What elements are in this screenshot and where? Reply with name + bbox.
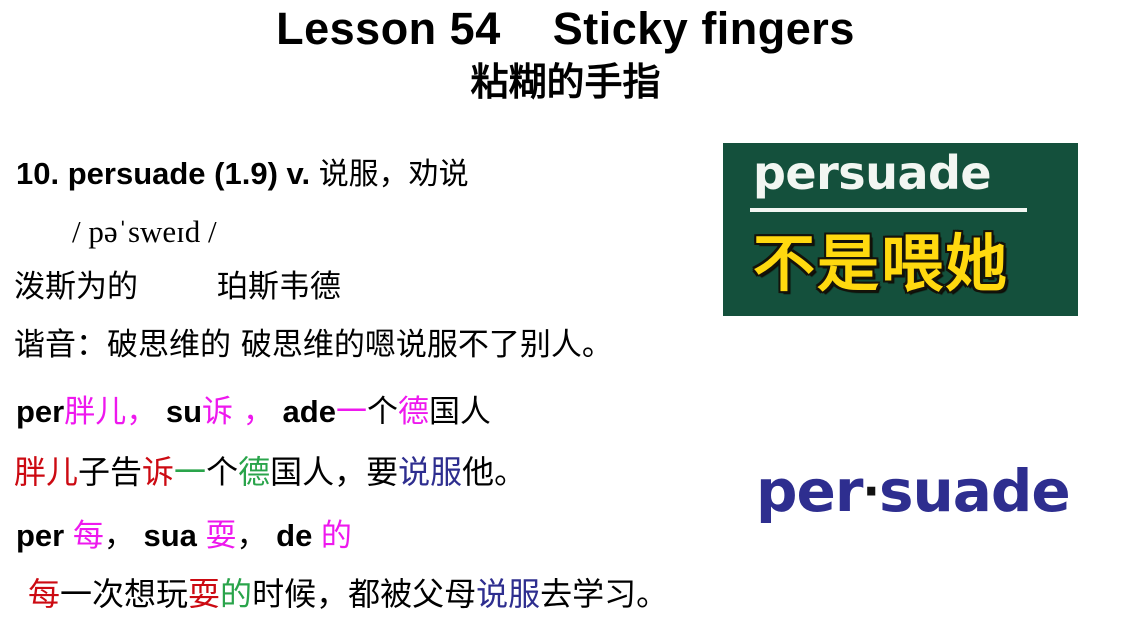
text-segment: su [157,394,202,429]
text-segment: 诉 [202,394,233,430]
wordmark-separator-dot: · [862,464,878,518]
wordmark-suffix: suade [879,457,1070,525]
text-segment: 的 [321,518,352,554]
green-mnemonic-card: persuade 不是喂她 [723,143,1078,316]
text-segment: 胖儿 [14,453,78,491]
text-segment: 国人，要 [270,453,398,491]
lesson-title-chinese: 粘糊的手指 [0,57,1131,107]
vocabulary-definition: 说服，劝说 [319,157,469,192]
text-segment: 每 [73,518,104,554]
text-segment: ， [104,518,135,554]
example-sentence-line-1: 胖儿子告诉一个德国人，要说服他。 [14,456,526,488]
text-segment: 一 [174,453,206,491]
text-segment: 时候，都被父母 [252,575,476,613]
lesson-title-english: Lesson 54 Sticky fingers [0,2,1131,56]
vocabulary-headword: 10. persuade (1.9) v. [16,156,319,191]
green-card-chinese: 不是喂她 [753,213,1009,303]
mnemonic-breakdown-line-1: per胖儿， su诉 ， ade一个德国人 [16,396,491,428]
text-segment: 一 [336,394,367,430]
text-segment: 子告 [78,453,142,491]
text-segment: ， [237,518,268,554]
text-segment: 去学习。 [540,575,668,613]
text-segment: 个 [206,453,238,491]
text-segment: de [268,518,321,553]
wordmark-prefix: per [756,457,862,525]
text-segment: 每 [28,575,60,613]
text-segment: 耍 [188,575,220,613]
text-segment: per [16,518,73,553]
vocabulary-entry-line: 10. persuade (1.9) v. 说服，劝说 [16,158,469,190]
persuade-wordmark: per·suade [756,457,1070,525]
text-segment: per [16,394,64,429]
mnemonic-breakdown-line-2: per 每， sua 耍， de 的 [16,520,352,552]
text-segment: 说服 [398,453,462,491]
example-sentence-line-2: 每一次想玩耍的时候，都被父母说服去学习。 [28,578,668,610]
text-segment: 德 [398,394,429,430]
text-segment: 一次想玩 [60,575,188,613]
text-segment: ade [274,394,336,429]
green-card-word: persuade [753,146,991,200]
text-segment: 国人 [429,394,491,430]
text-segment: 的 [220,575,252,613]
text-segment: 诉 [142,453,174,491]
text-segment: 个 [367,394,398,430]
text-segment: sua [135,518,206,553]
text-segment: 德 [238,453,270,491]
homophone-reading-line: 泼斯为的 珀斯韦德 [14,272,341,303]
green-card-underline [750,208,1027,212]
text-segment: ， [233,394,274,430]
slide-title-block: Lesson 54 Sticky fingers 粘糊的手指 [0,2,1131,107]
xieyin-explanation-line: 谐音：破思维的 破思维的嗯说服不了别人。 [14,330,613,361]
text-segment: 说服 [476,575,540,613]
text-segment: 耍 [206,518,237,554]
phonetic-transcription: / pəˈsweɪd / [72,216,217,247]
text-segment: 他。 [462,453,526,491]
text-segment: 胖儿， [64,394,157,430]
